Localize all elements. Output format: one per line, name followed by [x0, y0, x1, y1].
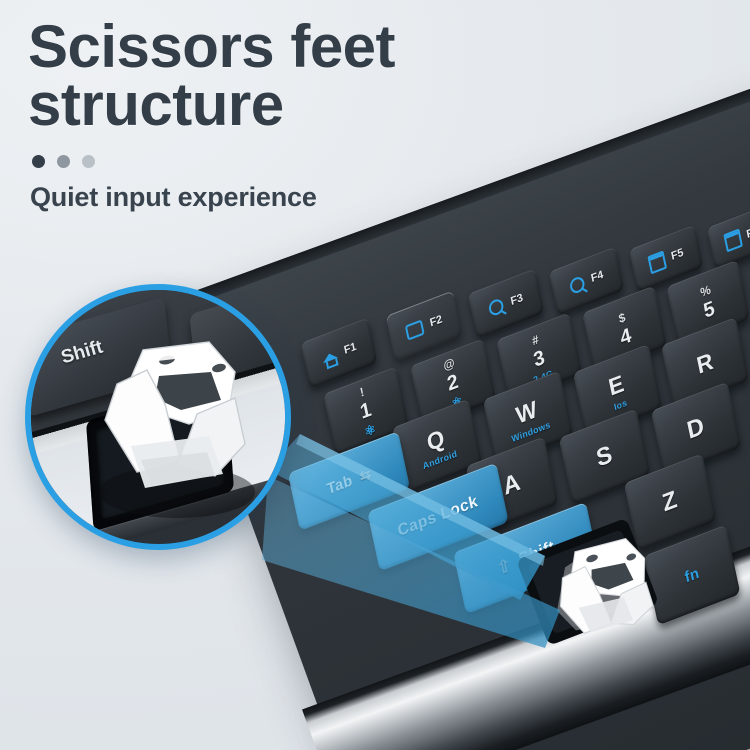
device-search-icon: [488, 297, 505, 317]
magnifier-callout: Shift: [25, 284, 291, 550]
key-f6[interactable]: F6: [707, 204, 750, 269]
key-d-main: D: [685, 412, 708, 446]
key-3-main: 3: [532, 346, 548, 373]
key-f2-label: F2: [429, 313, 444, 329]
key-2-main: 2: [445, 370, 461, 397]
carousel-dots[interactable]: [32, 155, 628, 168]
key-tab-label: Tab: [325, 471, 354, 498]
key-shift-label: Shift: [517, 538, 556, 569]
key-a-main: A: [501, 468, 524, 502]
key-1-main: 1: [358, 398, 374, 425]
carousel-dot-3[interactable]: [82, 155, 95, 168]
key-z-main: Z: [660, 485, 680, 518]
key-f1-label: F1: [343, 340, 358, 356]
home-icon: [321, 350, 337, 363]
key-2-shift: @: [442, 355, 456, 373]
page-subtitle: Quiet input experience: [30, 182, 628, 213]
key-q-main: Q: [424, 424, 447, 457]
key-f5-label: F5: [670, 246, 685, 262]
key-caps-lock-label: Caps Lock: [396, 493, 480, 541]
key-e-sub: Ios: [613, 397, 628, 412]
headline-block: Scissors feet structure Quiet input expe…: [28, 18, 628, 213]
key-fn-label: fn: [683, 564, 701, 586]
shift-arrow-icon: ⇧: [496, 555, 513, 577]
key-5-shift: %: [699, 282, 712, 300]
key-1-shift: !: [359, 385, 366, 400]
key-q-sub: Android: [422, 448, 458, 471]
headline-line-2: structure: [28, 76, 628, 134]
page-title: Scissors feet structure: [28, 18, 628, 133]
carousel-dot-2[interactable]: [57, 155, 70, 168]
magnified-scissor-switch-icon: [31, 290, 285, 544]
product-marketing-banner: F1 F2 F3 F4 F5: [0, 0, 750, 750]
key-4-main: 4: [618, 323, 634, 350]
document-icon: [647, 250, 667, 274]
key-e-main: E: [606, 369, 626, 401]
key-f3-label: F3: [509, 291, 524, 307]
headline-line-1: Scissors feet: [28, 13, 395, 80]
bluetooth-icon: ⚛: [363, 422, 377, 439]
key-f4-label: F4: [590, 269, 605, 285]
lock-icon: [723, 228, 743, 252]
key-f6-label: F6: [745, 225, 750, 241]
key-r-main: R: [694, 347, 716, 380]
key-s-main: S: [594, 440, 615, 474]
magnifier-content: Shift: [31, 290, 285, 544]
key-w-main: W: [514, 395, 540, 430]
screen-icon: [404, 319, 424, 340]
search-icon: [568, 275, 585, 295]
key-5-main: 5: [702, 297, 718, 324]
key-3-shift: #: [531, 332, 540, 348]
tab-arrows-icon: ⇆: [358, 466, 372, 484]
key-4-shift: $: [617, 309, 626, 325]
carousel-dot-1[interactable]: [32, 155, 45, 168]
